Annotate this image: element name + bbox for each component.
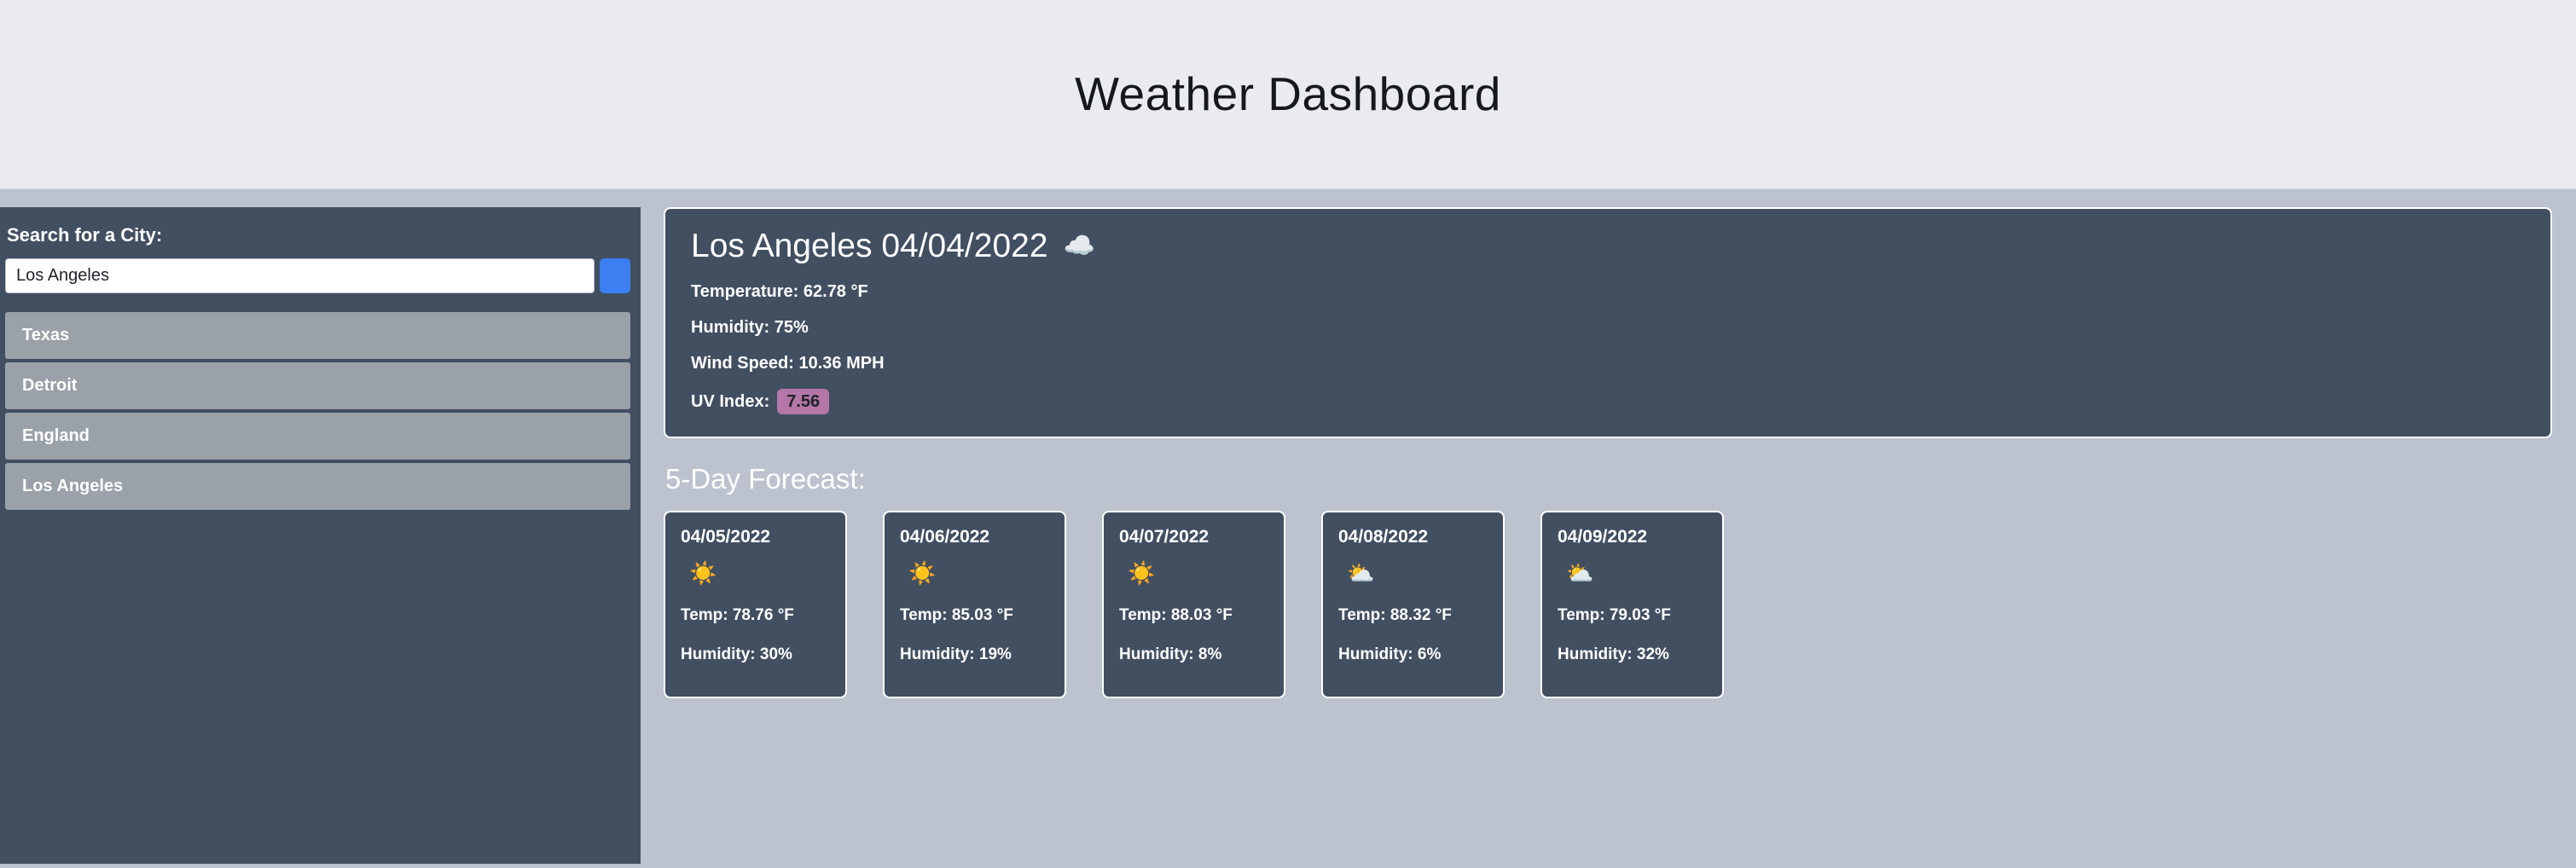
history-item-texas[interactable]: Texas [5,312,630,359]
history-item-england[interactable]: England [5,413,630,460]
forecast-temp: Temp: 88.32 °F [1338,606,1489,626]
history-item-label: England [22,426,90,446]
forecast-humidity: Humidity: 30% [681,645,832,665]
sun-icon: ☀️ [908,562,1051,591]
forecast-date: 04/09/2022 [1558,526,1709,547]
history-item-label: Los Angeles [22,477,123,496]
current-uv-index: UV Index: 7.56 [691,389,2525,414]
cloud-icon: ☁️ [1064,234,1095,259]
sun-behind-cloud-icon: ⛅ [1566,562,1709,591]
current-temperature: Temperature: 62.78 °F [691,281,2525,302]
page-header: Weather Dashboard [0,0,2576,189]
forecast-card: 04/07/2022 ☀️ Temp: 88.03 °F Humidity: 8… [1102,511,1285,698]
search-label: Search for a City: [0,207,641,246]
forecast-card: 04/09/2022 ⛅ Temp: 79.03 °F Humidity: 32… [1540,511,1724,698]
sun-icon: ☀️ [1128,562,1270,591]
forecast-temp: Temp: 79.03 °F [1558,606,1709,626]
forecast-card-list: 04/05/2022 ☀️ Temp: 78.76 °F Humidity: 3… [664,511,2552,698]
history-item-los-angeles[interactable]: Los Angeles [5,463,630,510]
forecast-humidity: Humidity: 19% [900,645,1051,665]
search-history-list: Texas Detroit England Los Angeles [5,312,630,510]
forecast-temp: Temp: 85.03 °F [900,606,1051,626]
search-input[interactable] [5,258,595,293]
current-weather-title: Los Angeles 04/04/2022 ☁️ [691,228,2525,266]
broken-clouds-icon: ⛅ [1347,562,1489,591]
current-city-date: Los Angeles 04/04/2022 [691,228,1048,266]
forecast-humidity: Humidity: 8% [1119,645,1270,665]
current-wind-speed: Wind Speed: 10.36 MPH [691,353,2525,373]
current-weather-card: Los Angeles 04/04/2022 ☁️ Temperature: 6… [664,207,2552,438]
forecast-date: 04/07/2022 [1119,526,1270,547]
history-item-detroit[interactable]: Detroit [5,362,630,409]
history-item-label: Detroit [22,376,77,396]
forecast-card: 04/05/2022 ☀️ Temp: 78.76 °F Humidity: 3… [664,511,847,698]
forecast-heading: 5-Day Forecast: [665,462,2552,496]
forecast-humidity: Humidity: 32% [1558,645,1709,665]
search-button[interactable] [600,258,630,293]
search-row [5,258,630,293]
forecast-date: 04/08/2022 [1338,526,1489,547]
forecast-date: 04/05/2022 [681,526,832,547]
forecast-card: 04/08/2022 ⛅ Temp: 88.32 °F Humidity: 6% [1321,511,1505,698]
sun-icon: ☀️ [689,562,832,591]
uv-index-badge: 7.56 [777,389,829,414]
history-item-label: Texas [22,326,69,345]
forecast-date: 04/06/2022 [900,526,1051,547]
uv-index-label: UV Index: [691,391,769,412]
sidebar: Search for a City: Texas Detroit England… [0,207,641,864]
main-content: Los Angeles 04/04/2022 ☁️ Temperature: 6… [641,189,2576,868]
forecast-humidity: Humidity: 6% [1338,645,1489,665]
page-title: Weather Dashboard [1075,71,1501,118]
forecast-temp: Temp: 88.03 °F [1119,606,1270,626]
forecast-card: 04/06/2022 ☀️ Temp: 85.03 °F Humidity: 1… [883,511,1066,698]
forecast-temp: Temp: 78.76 °F [681,606,832,626]
page-body: Search for a City: Texas Detroit England… [0,189,2576,868]
current-humidity: Humidity: 75% [691,317,2525,338]
